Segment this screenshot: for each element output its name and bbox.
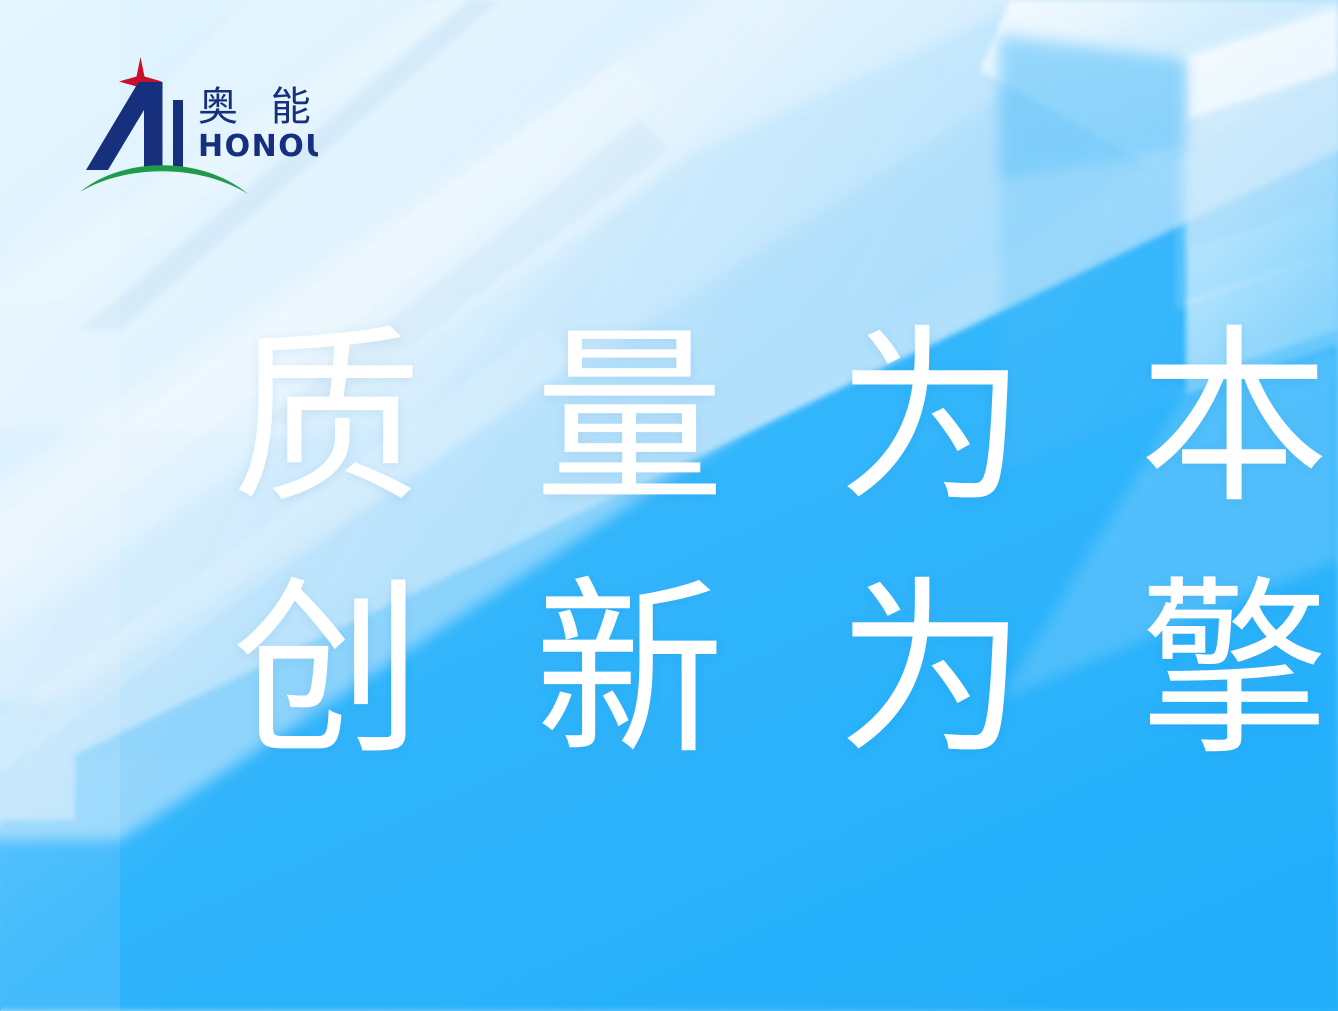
- panel-band-streak: [1186, 70, 1338, 250]
- headline-block: 质 量 为 本 创 新 为 擎: [232, 300, 1132, 790]
- poster-canvas: 奥 能 HONOUR 质 量 为 本 创 新 为 擎: [0, 0, 1338, 1011]
- topright-upper-face: [1176, 0, 1338, 310]
- left-notch-step: [0, 762, 250, 1011]
- logo-brand-en: HONOUR: [198, 129, 318, 164]
- headline-line-2: 创 新 为 擎: [232, 552, 1132, 790]
- panel-upper-shade: [1000, 40, 1186, 180]
- mountain-a-mark: [86, 82, 163, 170]
- honour-logo-artwork: 奥 能 HONOUR: [78, 52, 318, 197]
- logo-brand-cn: 奥 能: [198, 84, 318, 130]
- logo-vertical-bar: [173, 100, 183, 170]
- headline-line-1: 质 量 为 本: [232, 300, 1132, 538]
- topright-roof-plane: [980, 0, 1338, 165]
- honour-logo[interactable]: 奥 能 HONOUR: [78, 52, 318, 197]
